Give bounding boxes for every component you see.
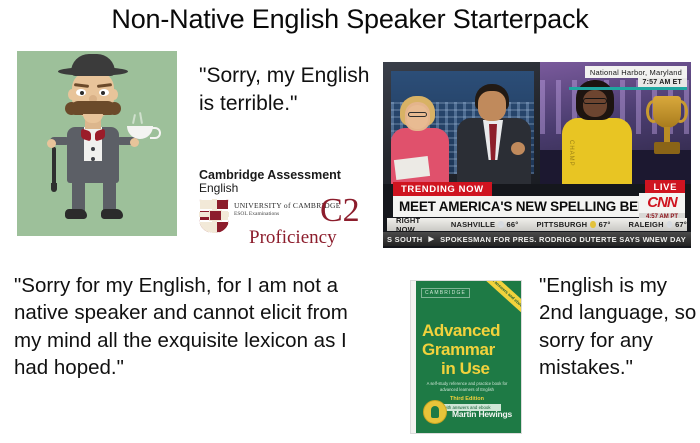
cnn-studio-left-panel <box>383 62 540 184</box>
right-shoe <box>101 209 123 219</box>
left-hand <box>47 139 56 148</box>
weather-label: RIGHT NOW <box>396 216 431 234</box>
cnn-broadcast-screenshot: CHAMP National Harbor, Maryland 7:57 AM … <box>383 62 691 248</box>
cnn-headline: MEET AMERICA'S NEW SPELLING BEE CHAMP <box>393 196 653 217</box>
male-anchor <box>455 84 535 184</box>
book-title-line-1: Advanced <box>422 322 500 339</box>
weather-temp-1: 66° <box>507 220 519 229</box>
quote-top: "Sorry, my English is terrible." <box>199 62 374 118</box>
cambridge-level-name: Proficiency <box>249 228 337 247</box>
ticker-show-name: NEW DAY <box>649 235 686 244</box>
cambridge-seal-icon <box>423 400 447 424</box>
trophy-icon <box>648 96 686 158</box>
steam-wisp <box>139 112 143 124</box>
book-title-line-3: in Use <box>441 360 490 377</box>
cnn-weather-bar: RIGHT NOW NASHVILLE 66° PITTSBURGH 67° R… <box>387 218 687 231</box>
weather-temp-2: 67° <box>599 220 611 229</box>
book-subtitle: A self-study reference and practice book… <box>424 381 510 394</box>
cambridge-crest-icon <box>199 199 229 233</box>
mustache-icon <box>70 101 116 115</box>
tea-cup-handle <box>150 127 161 139</box>
ticker-left-label: S SOUTH <box>387 235 422 244</box>
cnn-live-badge: LIVE <box>645 180 685 194</box>
jacket-button <box>91 157 95 161</box>
weather-temp-3: 67° <box>675 220 687 229</box>
bow-tie-icon <box>81 130 105 140</box>
quote-bottom-right: "English is my 2nd language, so sorry fo… <box>539 272 699 381</box>
left-pupil <box>80 91 84 95</box>
weather-city-2: PITTSBURGH <box>536 220 587 229</box>
umbrella-tip <box>51 183 57 192</box>
book-corner-flash: with answers and ebook <box>480 281 521 316</box>
book-page-edge <box>411 281 416 433</box>
cambridge-level-c2: C2 <box>320 194 360 228</box>
right-pupil <box>101 91 105 95</box>
glasses-icon <box>408 112 427 117</box>
spelling-bee-champion: CHAMP <box>562 80 632 184</box>
cambridge-title: Cambridge Assessment <box>199 168 379 182</box>
left-shoe <box>65 209 87 219</box>
book-publisher-logo: CAMBRIDGE <box>421 288 470 298</box>
bowler-hat-icon <box>71 54 115 76</box>
right-hand <box>130 138 139 147</box>
jacket-button <box>91 147 95 151</box>
ticker-headline: SPOKESMAN FOR PRES. RODRIGO DUTERTE SAYS… <box>440 235 649 244</box>
cloud-icon <box>498 221 503 228</box>
female-anchor <box>389 96 455 184</box>
cnn-teal-bar <box>569 87 687 90</box>
page-title: Non-Native English Speaker Starterpack <box>0 4 700 35</box>
advanced-grammar-in-use-book: CAMBRIDGE with answers and ebook Advance… <box>411 281 521 433</box>
book-title-line-2: Grammar <box>422 341 495 358</box>
right-ear <box>110 89 118 100</box>
cnn-time-et: 7:57 AM ET <box>638 78 687 87</box>
umbrella-icon <box>52 147 56 187</box>
book-author: Martin Hewings <box>452 409 512 419</box>
quote-bottom-left: "Sorry for my English, for I am not a na… <box>14 272 379 381</box>
glasses-icon <box>583 98 607 104</box>
cloud-icon <box>667 221 672 228</box>
script-papers <box>394 156 430 180</box>
weather-city-1: NASHVILLE <box>451 220 495 229</box>
sun-icon <box>590 221 595 228</box>
steam-wisp <box>132 114 136 124</box>
champion-shirt-text: CHAMP <box>568 140 574 167</box>
cnn-news-ticker: S SOUTH ▶ SPOKESMAN FOR PRES. RODRIGO DU… <box>383 232 691 246</box>
english-gentleman-illustration <box>17 51 177 236</box>
gentleman-figure <box>17 51 177 236</box>
left-ear <box>68 89 76 100</box>
play-arrow-icon: ▶ <box>428 235 434 243</box>
cnn-logo: CNN <box>639 193 685 213</box>
cnn-location-label: National Harbor, Maryland <box>585 66 687 78</box>
weather-city-3: RALEIGH <box>629 220 664 229</box>
